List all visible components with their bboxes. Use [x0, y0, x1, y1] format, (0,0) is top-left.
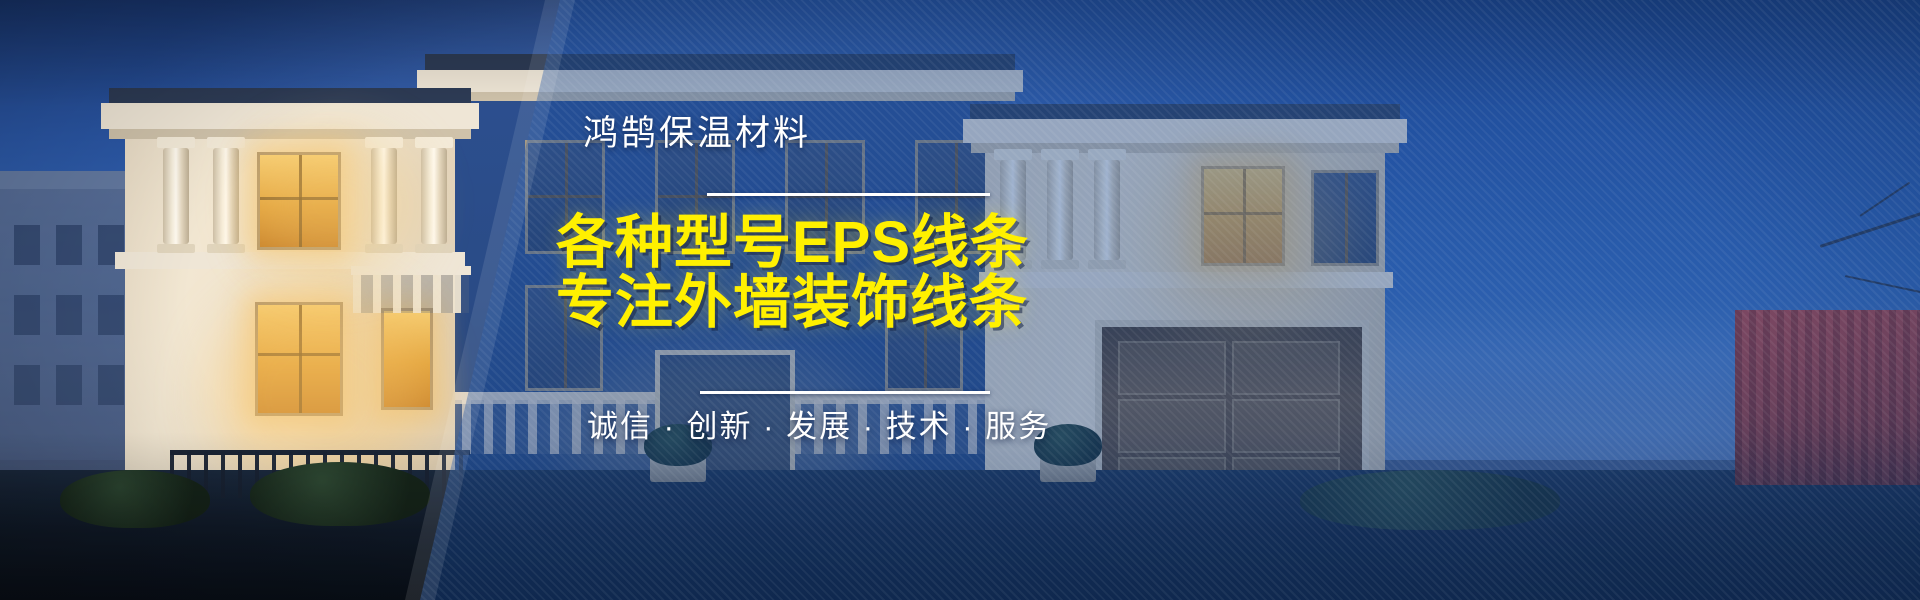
hero-banner: 鸿鹄保温材料 各种型号EPS线条 专注外墙装饰线条 诚信 · 创新 · 发展 ·…: [0, 0, 1920, 600]
brand-name: 鸿鹄保温材料: [583, 105, 811, 156]
banner-copy: 鸿鹄保温材料 各种型号EPS线条 专注外墙装饰线条 诚信 · 创新 · 发展 ·…: [560, 0, 1020, 600]
tagline: 诚信 · 创新 · 发展 · 技术 · 服务: [587, 401, 1027, 446]
headline-line-2: 专注外墙装饰线条: [556, 255, 1026, 339]
divider-bottom: [700, 391, 990, 394]
